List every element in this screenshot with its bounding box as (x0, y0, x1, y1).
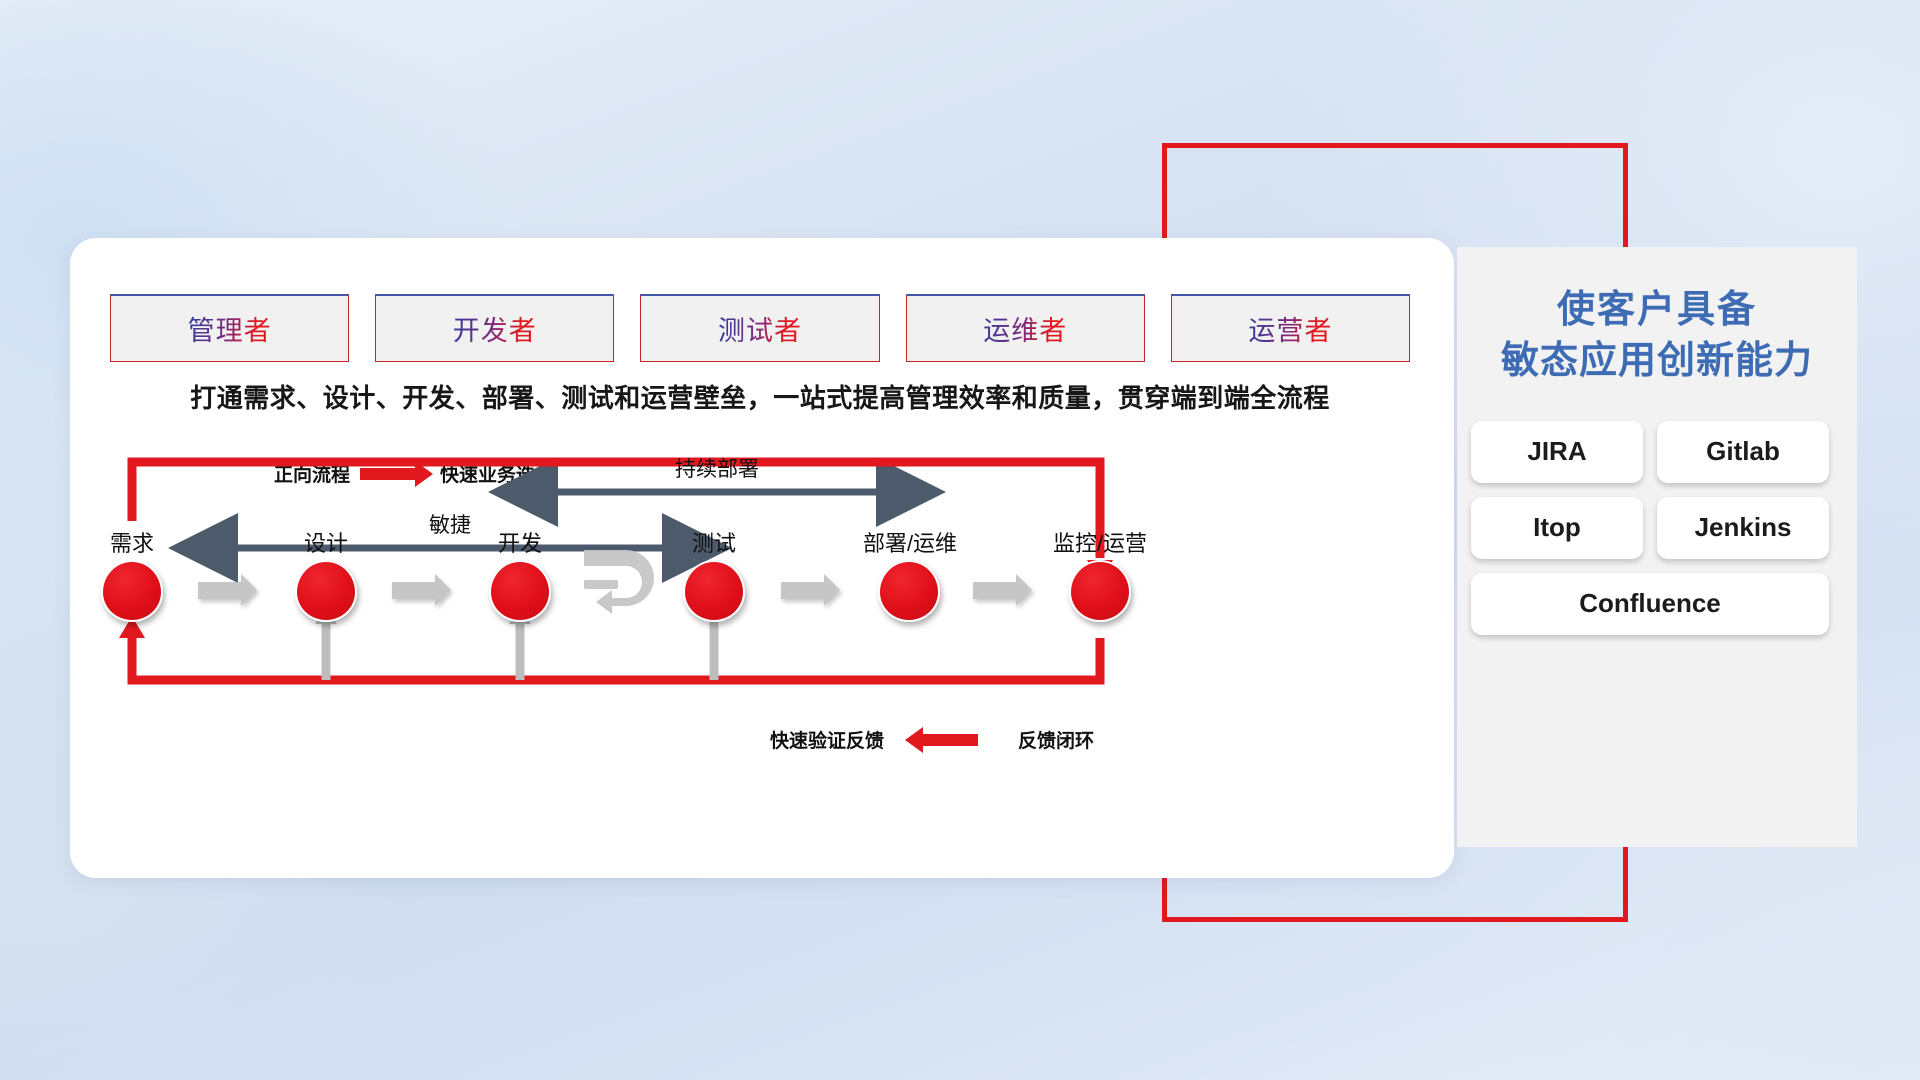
tools-panel-title-line1: 使客户具备 (1457, 285, 1857, 336)
tool-pill-itop[interactable]: Itop (1471, 497, 1643, 559)
node-label-deploy-ops: 部署/运维 (830, 526, 990, 558)
node-label-development: 开发 (490, 526, 550, 558)
tool-pill-jira[interactable]: JIRA (1471, 421, 1643, 483)
tools-panel-title-line2: 敏态应用创新能力 (1457, 336, 1857, 387)
cycle-recycle-icon (584, 550, 654, 614)
tool-pill-jenkins[interactable]: Jenkins (1657, 497, 1829, 559)
node-label-design: 设计 (296, 526, 356, 558)
span-label-agile: 敏捷 (182, 509, 718, 539)
pipeline-node-monitor-ops[interactable] (1069, 560, 1131, 622)
tools-panel-title: 使客户具备 敏态应用创新能力 (1457, 285, 1857, 387)
tools-panel: 使客户具备 敏态应用创新能力 JIRA Gitlab Itop Jenkins … (1457, 247, 1857, 847)
flow-arrow-design-to-dev (392, 582, 436, 599)
red-loop-bottom-path (132, 638, 1100, 680)
pipeline-node-design[interactable] (295, 560, 357, 622)
main-content-card: 管理者 开发者 测试者 运维者 运营者 打通需求、设计、开发、部署、测试和运营壁… (70, 238, 1454, 878)
pipeline-graphics (70, 238, 1454, 878)
tools-grid: JIRA Gitlab Itop Jenkins Confluence (1471, 421, 1843, 635)
span-label-continuous-deployment: 持续部署 (502, 453, 932, 483)
pipeline-node-testing[interactable] (683, 560, 745, 622)
node-label-monitor-ops: 监控/运营 (1020, 526, 1180, 558)
pipeline-node-requirement[interactable] (101, 560, 163, 622)
tool-pill-confluence[interactable]: Confluence (1471, 573, 1829, 635)
pipeline-node-deploy-ops[interactable] (878, 560, 940, 622)
flow-arrow-req-to-design (198, 582, 242, 599)
pipeline-node-development[interactable] (489, 560, 551, 622)
node-label-testing: 测试 (684, 526, 744, 558)
flow-arrow-test-to-deploy (781, 582, 825, 599)
slide-canvas: 管理者 开发者 测试者 运维者 运营者 打通需求、设计、开发、部署、测试和运营壁… (0, 0, 1920, 1080)
flow-arrow-deploy-to-monitor (973, 582, 1017, 599)
node-label-requirement: 需求 (102, 526, 162, 558)
tool-pill-gitlab[interactable]: Gitlab (1657, 421, 1829, 483)
